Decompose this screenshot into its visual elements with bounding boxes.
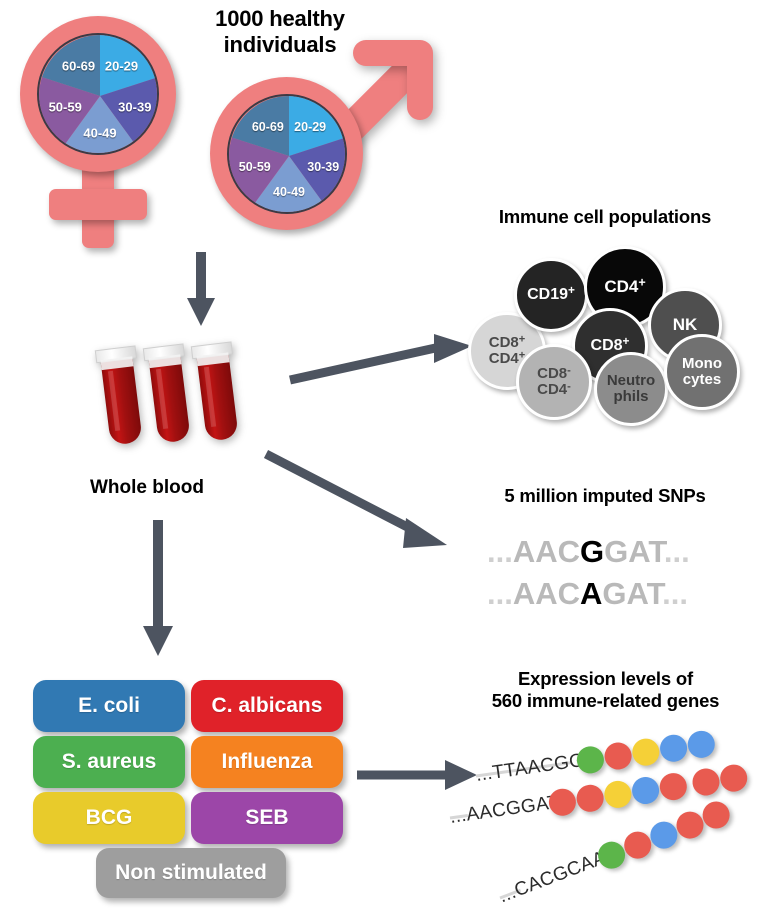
expression-bead [575, 783, 605, 813]
age-group-label-60-69: 60-69 [252, 120, 284, 134]
age-group-label-40-49: 40-49 [273, 185, 305, 199]
age-group-label-20-29: 20-29 [105, 59, 138, 74]
immune-populations-title: Immune cell populations [440, 206, 770, 228]
immune-cell-label-8b: cytes [682, 372, 722, 388]
immune-cell-label-2: CD19+ [527, 287, 575, 304]
immune-cell-label-3: CD4+ [604, 278, 645, 296]
stimulus-seb[interactable]: SEB [191, 792, 343, 844]
expression-bead [658, 733, 688, 763]
expression-bead [699, 798, 734, 833]
age-group-label-20-29: 20-29 [294, 120, 326, 134]
expression-strands: ...TTAACGG ...AACGGAT ...CACGCAA [460, 735, 771, 900]
stimulus-e-coli[interactable]: E. coli [33, 680, 185, 732]
expression-title-line1: Expression levels of [440, 668, 771, 690]
strand-sequence-1: ...TTAACGG [474, 750, 585, 787]
age-group-label-50-59: 50-59 [49, 100, 82, 115]
female-age-pie-chart: 20-2930-3940-4950-5960-69 [37, 33, 159, 155]
age-group-label-30-39: 30-39 [307, 160, 339, 174]
stimulus-bcg[interactable]: BCG [33, 792, 185, 844]
immune-cell-label-7a: Neutro [607, 373, 655, 389]
stimulus-label-3: Influenza [221, 750, 312, 774]
strand-sequence-2: ...AACGGAT [448, 792, 560, 829]
snp-suffix-1: GAT [604, 534, 664, 569]
arrow-blood-to-immune [288, 333, 488, 403]
immune-cell-label-8a: Mono [682, 356, 722, 372]
expression-bead [658, 771, 688, 801]
stimulus-label-4: BCG [86, 806, 133, 830]
female-symbol-crossbar [49, 189, 147, 220]
stimulus-influenza[interactable]: Influenza [191, 736, 343, 788]
snp-prefix-1: AAC [513, 534, 580, 569]
arrow-blood-to-stimuli [138, 518, 178, 663]
snp-dots-left-1: ... [487, 534, 513, 569]
age-group-label-30-39: 30-39 [118, 100, 151, 115]
age-group-label-60-69: 60-69 [62, 59, 95, 74]
stimulus-c-albicans[interactable]: C. albicans [191, 680, 343, 732]
stimuli-panel: E. coli C. albicans S. aureus Influenza … [30, 678, 350, 898]
age-group-label-50-59: 50-59 [239, 160, 271, 174]
stimulus-label-2: S. aureus [62, 750, 157, 774]
immune-cell-cd8n-cd4n: CD8- CD4- [516, 344, 592, 420]
snp-dots-right-1: ... [664, 534, 690, 569]
immune-cell-monocytes: Mono cytes [664, 334, 740, 410]
arrow-blood-to-snps [262, 448, 482, 568]
immune-cell-cluster: CD8+ CD4+ CD19+ CD4+ NK CD8+ CD8- CD4- [460, 240, 760, 420]
diagram-canvas: 1000 healthy individuals 20-2930-3940-49… [0, 0, 771, 922]
immune-cell-label-4: NK [673, 316, 698, 334]
snp-sequence-row-2: ...AACAGAT... [487, 576, 688, 612]
snp-suffix-2: GAT [602, 576, 662, 611]
expression-bead [603, 741, 633, 771]
age-group-label-40-49: 40-49 [83, 125, 116, 140]
snp-dots-left-2: ... [487, 576, 513, 611]
expression-bead [686, 729, 716, 759]
snp-sequence-row-1: ...AACGGAT... [487, 534, 690, 570]
immune-cell-label-6a: CD8- [537, 366, 571, 382]
immune-cell-cd19p: CD19+ [514, 258, 588, 332]
snp-prefix-2: AAC [513, 576, 580, 611]
stimulus-label-0: E. coli [78, 694, 140, 718]
expression-title-line2: 560 immune-related genes [440, 690, 771, 712]
stimulus-non-stimulated[interactable]: Non stimulated [96, 848, 286, 898]
stimulus-label-5: SEB [245, 806, 288, 830]
stimulus-s-aureus[interactable]: S. aureus [33, 736, 185, 788]
snps-title: 5 million imputed SNPs [440, 485, 770, 507]
snp-dots-right-2: ... [662, 576, 688, 611]
immune-cell-label-7b: phils [607, 389, 655, 405]
expression-title: Expression levels of 560 immune-related … [440, 668, 771, 712]
expression-bead [630, 775, 660, 805]
whole-blood-label: Whole blood [90, 477, 204, 499]
stimulus-label-6: Non stimulated [115, 861, 267, 885]
whole-blood-tubes [95, 340, 295, 460]
immune-cell-neutrophils: Neutro phils [594, 352, 668, 426]
expression-bead [631, 737, 661, 767]
cohort-title-line1: 1000 healthy [170, 6, 390, 32]
snp-variant-2: A [580, 576, 602, 611]
female-gender-symbol: 20-2930-3940-4950-5960-69 [10, 8, 190, 258]
expression-bead [691, 767, 721, 797]
immune-cell-label-6b: CD4- [537, 382, 571, 398]
strand-sequence-3: ...CACGCAA [496, 847, 609, 908]
male-age-pie-chart: 20-2930-3940-4950-5960-69 [227, 94, 347, 214]
arrow-cohort-to-blood [181, 250, 221, 330]
snp-variant-1: G [580, 534, 604, 569]
expression-bead [603, 779, 633, 809]
stimulus-label-1: C. albicans [212, 694, 323, 718]
male-gender-symbol: 20-2930-3940-4950-5960-69 [202, 55, 432, 255]
